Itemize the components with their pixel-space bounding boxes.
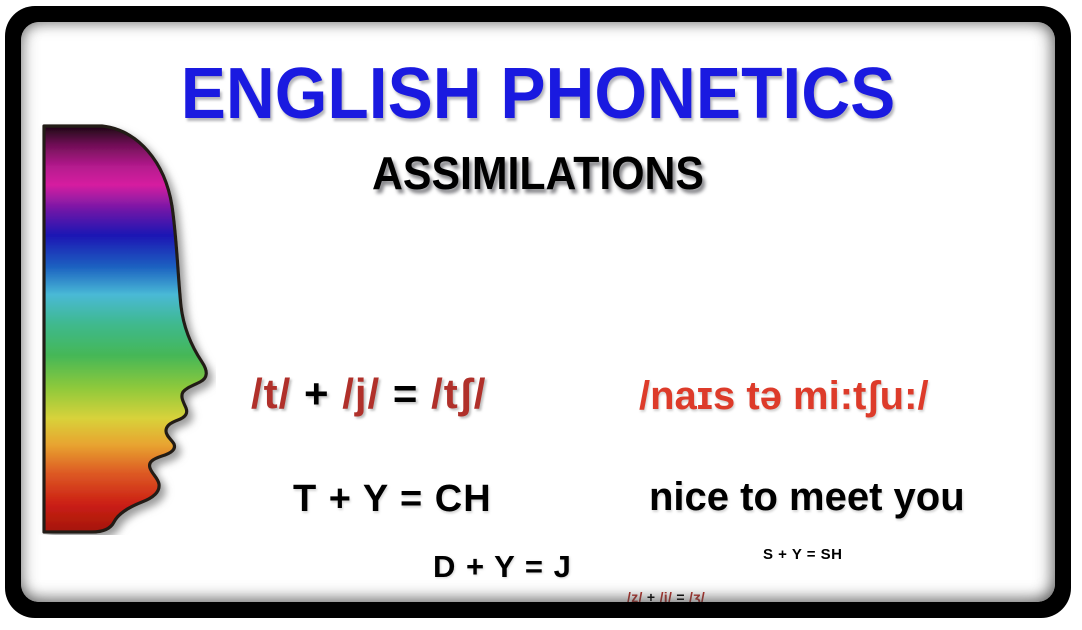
formula-ipa-primary: /t/ + /j/ = /tʃ/ [251, 370, 486, 418]
formula-ipa-rhs: /j/ [342, 370, 380, 417]
formula-ipa-2-equals: = [676, 589, 684, 602]
formula-ipa-2-plus: + [647, 589, 655, 602]
formula-ipa-2-result: /ʒ/ [689, 589, 705, 602]
example-ipa-transcription: /naɪs tə mi:tʃu:/ [639, 374, 929, 419]
rainbow-face-profile-icon [26, 100, 216, 535]
formula-letters-tertiary: S + Y = SH [763, 546, 843, 563]
formula-ipa-lhs: /t/ [251, 370, 291, 417]
formula-ipa-result: /tʃ/ [431, 370, 486, 417]
formula-ipa-secondary: /z/ + /j/ = /ʒ/ [627, 589, 705, 602]
formula-ipa-plus: + [304, 370, 330, 417]
formula-letters-primary: T + Y = CH [293, 478, 492, 521]
formula-ipa-2-rhs: /j/ [660, 589, 673, 602]
example-words: nice to meet you [649, 475, 965, 520]
formula-letters-secondary: D + Y = J [433, 549, 572, 585]
formula-ipa-equals: = [393, 370, 419, 417]
slide-content-area: ENGLISH PHONETICS ASSIMILATIONS [21, 22, 1055, 602]
face-profile-svg [26, 100, 216, 535]
formula-ipa-2-lhs: /z/ [627, 589, 643, 602]
phonetics-slide: ENGLISH PHONETICS ASSIMILATIONS [0, 0, 1082, 630]
